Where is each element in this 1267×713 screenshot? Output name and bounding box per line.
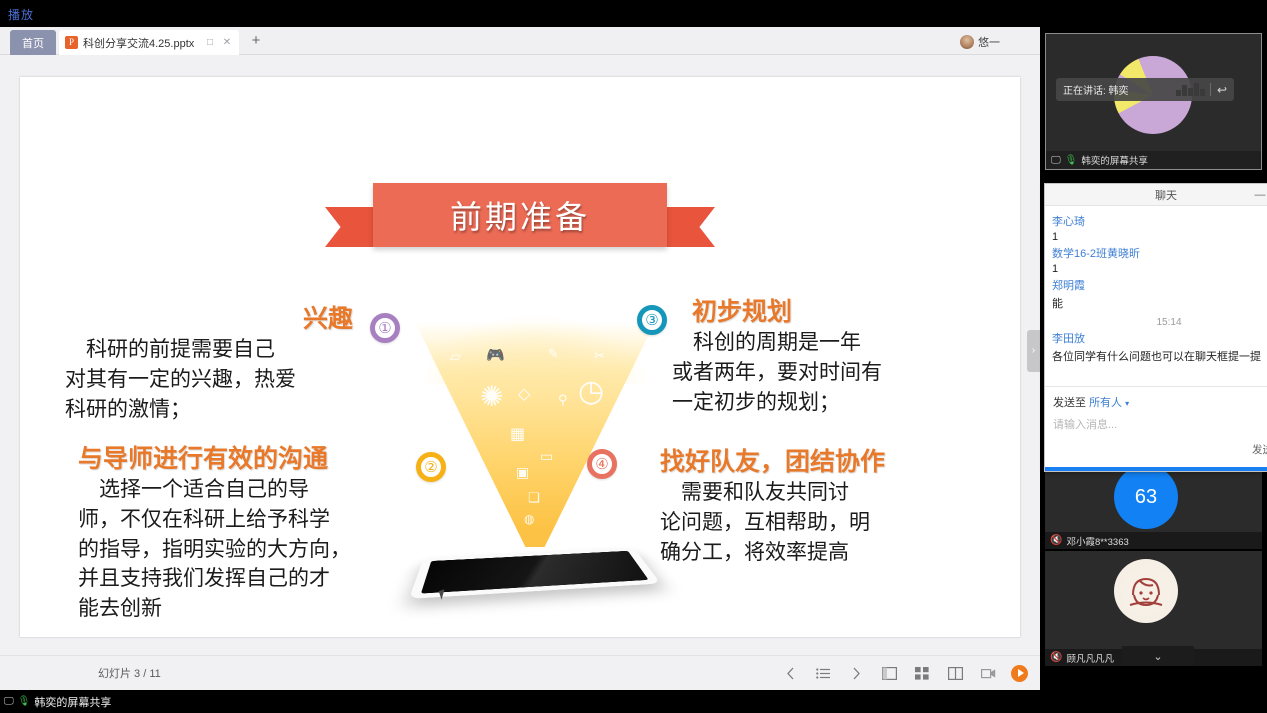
funnel-icon-chat: ▭ <box>540 448 553 465</box>
view-toolbar <box>780 663 1028 683</box>
funnel-icon-balloon: ❏ <box>528 490 540 506</box>
badge-number-4: ④ <box>587 449 617 479</box>
funnel-icon-tablet: ◇ <box>518 384 530 404</box>
chat-send-to-label: 发送至 <box>1053 397 1086 409</box>
speaking-label: 正在讲话: 韩奕 <box>1063 82 1176 97</box>
badge-number-3: ③ <box>637 305 667 335</box>
chat-window[interactable]: 聊天 — □ 李心琦 1 数学16-2班黄晓昕 1 郑明霞 能 15:14 李田… <box>1044 183 1267 472</box>
tab-document-label: 科创分享交流4.25.pptx <box>83 35 199 51</box>
participant-tile-2[interactable]: 🔇 顾凡凡凡凡 ⌄ <box>1045 551 1262 666</box>
chat-text: 各位同学有什么问题也可以在聊天框提一提 <box>1052 348 1267 364</box>
os-taskbar: 🖵 🎙 韩奕的屏幕共享 <box>0 690 1267 713</box>
speaking-indicator: 正在讲话: 韩奕 ↩ <box>1056 78 1234 101</box>
chat-send-button[interactable]: 发送(S) <box>1252 442 1267 457</box>
funnel-icon-globe: ◍ <box>524 512 534 526</box>
chat-compose-area: 发送至 所有人 ▾ 请输入消息... 发送(S) <box>1045 386 1267 460</box>
taskbar-share-label: 韩奕的屏幕共享 <box>34 694 111 710</box>
active-speaker-tile[interactable]: 正在讲话: 韩奕 ↩ 🖵 🎙 韩奕的屏幕共享 <box>1045 33 1262 170</box>
slide-counter: 幻灯片 3 / 11 <box>98 665 161 681</box>
chevron-down-icon[interactable]: ▾ <box>1125 399 1129 408</box>
audio-wave-icon <box>1176 83 1205 96</box>
prev-slide-icon[interactable] <box>780 663 800 683</box>
outline-list-icon[interactable] <box>813 663 833 683</box>
next-slide-icon[interactable] <box>846 663 866 683</box>
funnel-icon-cluster: ▱ 🎮 ✎ ✂ ✺ ◇ ⚲ ◷ ▦ ▭ ▣ ❏ ◍ <box>428 340 642 540</box>
avatar <box>960 35 974 49</box>
participant-tile-1-footer: 🔇 邓小霞8**3363 <box>1045 532 1262 549</box>
chat-input[interactable]: 请输入消息... <box>1053 416 1267 460</box>
slide-block-4-heading: 找好队友，团结协作 <box>660 442 990 478</box>
badge-number-2: ② <box>416 452 446 482</box>
slide-block-2: 与导师进行有效的沟通 选择一个适合自己的导 师，不仅在科研上给予科学 的指导，指… <box>78 439 418 624</box>
start-slideshow-button[interactable] <box>1011 665 1028 682</box>
play-strip: 播放 <box>0 0 1040 27</box>
slide-block-1: 兴趣 科研的前提需要自己 对其有一定的兴趣，热爱 科研的激情； <box>65 299 375 424</box>
participant-initials-avatar: 63 <box>1114 465 1178 529</box>
participant-name: 邓小霞8**3363 <box>1066 534 1128 548</box>
slide-sorter-icon[interactable] <box>912 663 932 683</box>
slide-block-4-body: 需要和队友共同讨 论问题，互相帮助，明 确分工，将效率提高 <box>660 478 990 567</box>
slide-block-4: 找好队友，团结协作 需要和队友共同讨 论问题，互相帮助，明 确分工，将效率提高 <box>660 442 990 567</box>
slide-area: 前期准备 ▱ 🎮 ✎ ✂ ✺ ◇ ⚲ ◷ <box>0 55 1040 655</box>
minimize-icon[interactable]: — <box>1254 188 1266 202</box>
powerpoint-window: 播放 首页 P 科创分享交流4.25.pptx □ ✕ + 悠一 <box>0 0 1040 690</box>
tablet-screen <box>421 551 649 594</box>
participant-photo-avatar <box>1114 559 1178 623</box>
chat-text: 能 <box>1052 295 1267 311</box>
normal-view-icon[interactable] <box>879 663 899 683</box>
tab-document[interactable]: P 科创分享交流4.25.pptx □ ✕ <box>59 30 239 55</box>
chat-sender: 李田放 <box>1052 330 1267 346</box>
microphone-muted-icon: 🔇 <box>1050 652 1062 663</box>
user-name: 悠一 <box>978 34 1000 50</box>
funnel-icon-basket: ▦ <box>510 424 525 444</box>
ribbon-body: 前期准备 <box>373 183 667 247</box>
powerpoint-icon: P <box>65 36 78 49</box>
tab-home[interactable]: 首页 <box>10 30 56 55</box>
funnel-icon-microphone: ⚲ <box>558 392 568 408</box>
close-icon[interactable]: ✕ <box>221 37 233 48</box>
chat-sender: 郑明霞 <box>1052 277 1267 293</box>
panel-collapse-handle[interactable]: › <box>1027 330 1040 372</box>
tablet-device <box>409 547 661 598</box>
chat-titlebar[interactable]: 聊天 — □ <box>1045 184 1267 206</box>
chat-sender: 李心琦 <box>1052 213 1267 229</box>
funnel-icon-pen: ✎ <box>548 346 559 362</box>
funnel-icon-camera: ▣ <box>516 464 529 481</box>
slide-canvas[interactable]: 前期准备 ▱ 🎮 ✎ ✂ ✺ ◇ ⚲ ◷ <box>20 77 1020 637</box>
chat-recipient-value[interactable]: 所有人 <box>1089 397 1122 409</box>
funnel-icon-clock: ◷ <box>578 374 604 409</box>
chat-text: 1 <box>1052 263 1267 275</box>
chat-recipient-row[interactable]: 发送至 所有人 ▾ <box>1053 394 1267 410</box>
share-owner-label: 韩奕的屏幕共享 <box>1081 153 1148 167</box>
funnel-icon-windmill: ✺ <box>480 380 503 413</box>
new-tab-icon[interactable]: + <box>248 33 264 49</box>
participant-name: 顾凡凡凡凡 <box>1066 651 1114 665</box>
slide-block-1-heading: 兴趣 <box>65 299 375 335</box>
restore-icon[interactable]: □ <box>204 37 216 48</box>
play-label: 播放 <box>8 6 34 23</box>
screen-share-icon: 🖵 <box>1051 155 1061 166</box>
microphone-icon: 🎙 <box>1065 155 1078 166</box>
slide-block-2-body: 选择一个适合自己的导 师，不仅在科研上给予科学 的指导，指明实验的大方向， 并且… <box>78 475 418 624</box>
chat-message-list[interactable]: 李心琦 1 数学16-2班黄晓昕 1 郑明霞 能 15:14 李田放 各位同学有… <box>1045 206 1267 386</box>
reading-view-icon[interactable] <box>945 663 965 683</box>
funnel-icon-mouse: ✂ <box>594 348 605 364</box>
user-chip[interactable]: 悠一 <box>960 33 1000 51</box>
return-arrow-icon[interactable]: ↩ <box>1217 83 1227 97</box>
chat-text: 1 <box>1052 231 1267 243</box>
slide-block-2-heading: 与导师进行有效的沟通 <box>78 439 418 475</box>
slide-block-3: 初步规划 科创的周期是一年 或者两年，要对时间有 一定初步的规划； <box>672 292 992 417</box>
chat-sender: 数学16-2班黄晓昕 <box>1052 245 1267 261</box>
slide-block-1-body: 科研的前提需要自己 对其有一定的兴趣，热爱 科研的激情； <box>65 335 375 424</box>
slide-block-3-heading: 初步规划 <box>672 292 992 328</box>
pill-divider <box>1210 83 1211 96</box>
girl-avatar-icon <box>1120 565 1172 617</box>
chat-window-controls: — □ <box>1254 188 1267 202</box>
slide-title: 前期准备 <box>450 192 590 238</box>
slide-banner: 前期准备 <box>325 183 715 259</box>
expand-participants-button[interactable]: ⌄ <box>1122 646 1194 666</box>
chat-accent-bar <box>1045 467 1267 471</box>
screen-root: 播放 首页 P 科创分享交流4.25.pptx □ ✕ + 悠一 <box>0 0 1267 713</box>
slide-block-3-body: 科创的周期是一年 或者两年，要对时间有 一定初步的规划； <box>672 328 992 417</box>
microphone-muted-icon: 🔇 <box>1050 535 1062 546</box>
microphone-icon: 🎙 <box>18 696 31 707</box>
powerpoint-status-bar: 幻灯片 3 / 11 <box>0 655 1040 690</box>
speaker-tile-footer: 🖵 🎙 韩奕的屏幕共享 <box>1046 151 1261 169</box>
chat-timestamp: 15:14 <box>1052 317 1267 328</box>
funnel-icon-frame: ▱ <box>450 348 461 365</box>
presenter-view-icon[interactable] <box>978 663 998 683</box>
funnel-graphic: ▱ 🎮 ✎ ✂ ✺ ◇ ⚲ ◷ ▦ ▭ ▣ ❏ ◍ <box>410 322 660 622</box>
funnel-icon-gamepad: 🎮 <box>486 346 505 364</box>
tab-bar: 首页 P 科创分享交流4.25.pptx □ ✕ + 悠一 <box>0 27 1040 55</box>
chat-window-title: 聊天 <box>1155 187 1177 203</box>
screen-share-icon: 🖵 <box>4 696 14 707</box>
